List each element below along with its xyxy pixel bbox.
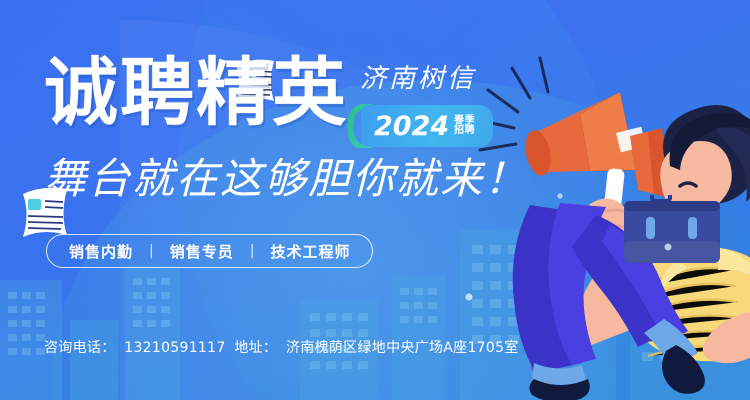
positions-pill: 销售内勤 | 销售专员 | 技术工程师 xyxy=(46,234,373,268)
phone-number: 13210591117 xyxy=(124,340,225,356)
phone-label: 咨询电话： xyxy=(44,340,116,356)
position-item-2: 技术工程师 xyxy=(270,241,350,262)
address-label: 地址： xyxy=(234,340,277,356)
recruitment-banner: 诚聘精英 济南树信 2024 春季 招聘 舞台就在这够胆你就 xyxy=(0,0,750,400)
position-item-0: 销售内勤 xyxy=(69,241,133,262)
subtitle: 舞台就在这够胆你就来！ xyxy=(44,155,528,203)
page-title: 诚聘精英 xyxy=(44,56,348,130)
position-item-1: 销售专员 xyxy=(170,241,234,262)
contact-info: 咨询电话： 13210591117 地址： 济南槐荫区绿地中央广场A座1705室 xyxy=(44,337,523,357)
badge-season-line2: 招聘 xyxy=(454,126,475,137)
year-badge: 2024 春季 招聘 xyxy=(345,104,495,148)
badge-season: 春季 招聘 xyxy=(454,116,475,137)
badge-body: 2024 春季 招聘 xyxy=(361,105,493,147)
banner-content: 诚聘精英 济南树信 2024 春季 招聘 舞台就在这够胆你就 xyxy=(0,0,750,400)
company-name: 济南树信 xyxy=(360,66,476,92)
address-value: 济南槐荫区绿地中央广场A座1705室 xyxy=(286,340,519,356)
badge-year-label: 2024 xyxy=(374,113,449,140)
position-separator: | xyxy=(250,243,255,259)
position-separator: | xyxy=(149,243,154,259)
